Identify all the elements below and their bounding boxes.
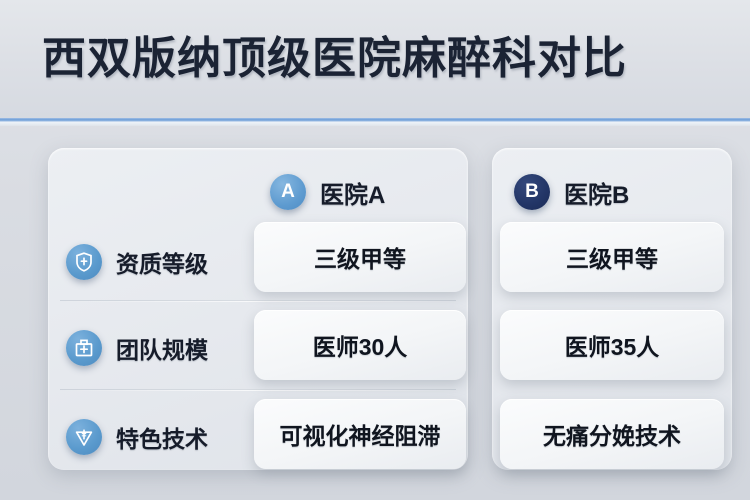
row-label-team-size: 团队规模: [66, 328, 208, 368]
cell-hospital-a-team-size: 医师30人: [254, 310, 466, 380]
cell-hospital-a-qualification: 三级甲等: [254, 222, 466, 292]
cell-hospital-b-featured-tech: 无痛分娩技术: [500, 399, 724, 469]
hospital-b-header: B 医院B: [514, 170, 629, 214]
cell-value: 无痛分娩技术: [543, 417, 681, 451]
shield-cross-icon: [66, 244, 102, 280]
header-bar: 西双版纳顶级医院麻醉科对比: [0, 0, 750, 118]
hospital-a-name: 医院A: [320, 175, 385, 210]
row-label-text: 团队规模: [116, 331, 208, 365]
cell-value: 医师35人: [565, 328, 660, 362]
row-label-qualification: 资质等级: [66, 242, 208, 282]
row-label-featured-tech: 特色技术: [66, 417, 208, 457]
cell-value: 三级甲等: [566, 240, 658, 274]
cell-hospital-b-qualification: 三级甲等: [500, 222, 724, 292]
comparison-infographic: 西双版纳顶级医院麻醉科对比 A 医院A B 医院B 资质等级: [0, 0, 750, 500]
row-label-text: 资质等级: [116, 245, 208, 279]
syringe-down-arrow-icon: [66, 419, 102, 455]
hospital-b-badge: B: [514, 174, 550, 210]
header-divider-glow: [0, 122, 750, 126]
hospital-a-badge: A: [270, 174, 306, 210]
cell-hospital-a-featured-tech: 可视化神经阻滞: [254, 399, 466, 469]
hospital-b-name: 医院B: [564, 175, 629, 210]
cell-hospital-b-team-size: 医师35人: [500, 310, 724, 380]
hospital-building-icon: [66, 330, 102, 366]
row-separator: [60, 389, 456, 391]
row-separator: [60, 300, 456, 302]
hospital-a-header: A 医院A: [270, 170, 385, 214]
cell-value: 可视化神经阻滞: [280, 417, 441, 451]
cell-value: 医师30人: [313, 328, 408, 362]
page-title: 西双版纳顶级医院麻醉科对比: [42, 37, 627, 81]
row-label-text: 特色技术: [116, 420, 208, 454]
cell-value: 三级甲等: [314, 240, 406, 274]
